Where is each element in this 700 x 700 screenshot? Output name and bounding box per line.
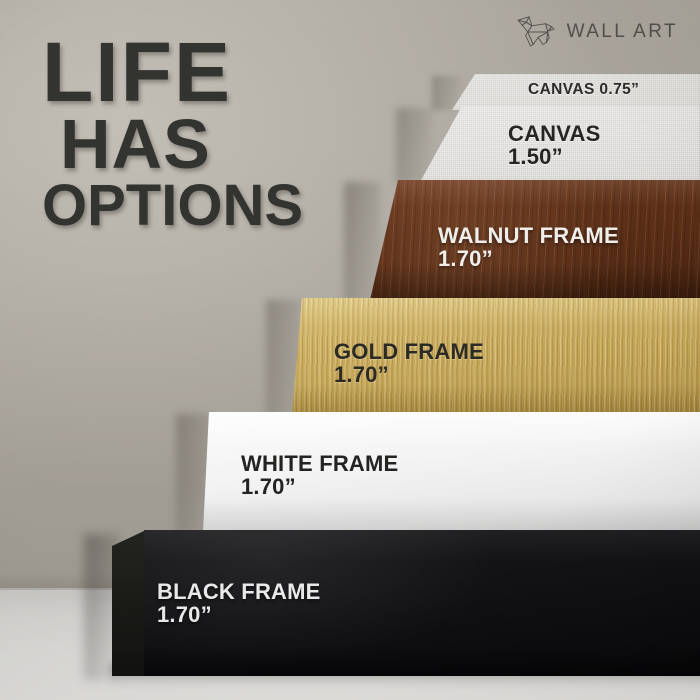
- product-options-poster: LIFE HAS OPTIONS WALL ART: [0, 0, 700, 700]
- product-slab-canvas-150[interactable]: CANVAS 1.50”: [420, 106, 700, 182]
- brand-logo[interactable]: WALL ART: [515, 14, 678, 50]
- slab-side-black-frame: [112, 530, 146, 676]
- product-label-walnut-frame: WALNUT FRAME 1.70”: [438, 224, 619, 271]
- product-slab-gold-frame[interactable]: GOLD FRAME 1.70”: [292, 298, 700, 414]
- product-slab-white-frame[interactable]: WHITE FRAME 1.70”: [203, 412, 700, 532]
- product-slab-canvas-075[interactable]: CANVAS 0.75”: [452, 74, 700, 110]
- product-slab-walnut-frame[interactable]: WALNUT FRAME 1.70”: [370, 180, 700, 300]
- product-slab-black-frame[interactable]: BLACK FRAME 1.70”: [112, 530, 700, 676]
- origami-goat-icon: [515, 14, 557, 50]
- brand-name: WALL ART: [567, 21, 678, 43]
- product-label-canvas-150: CANVAS 1.50”: [508, 122, 600, 169]
- product-label-gold-frame: GOLD FRAME 1.70”: [334, 340, 484, 387]
- headline-line-2: HAS: [60, 114, 372, 176]
- product-label-black-frame: BLACK FRAME 1.70”: [157, 580, 321, 627]
- headline-block: LIFE HAS OPTIONS: [42, 36, 372, 231]
- headline-line-3: OPTIONS: [42, 180, 372, 231]
- product-label-canvas-075: CANVAS 0.75”: [528, 82, 639, 98]
- product-label-white-frame: WHITE FRAME 1.70”: [241, 452, 398, 499]
- headline-line-1: LIFE: [42, 36, 372, 110]
